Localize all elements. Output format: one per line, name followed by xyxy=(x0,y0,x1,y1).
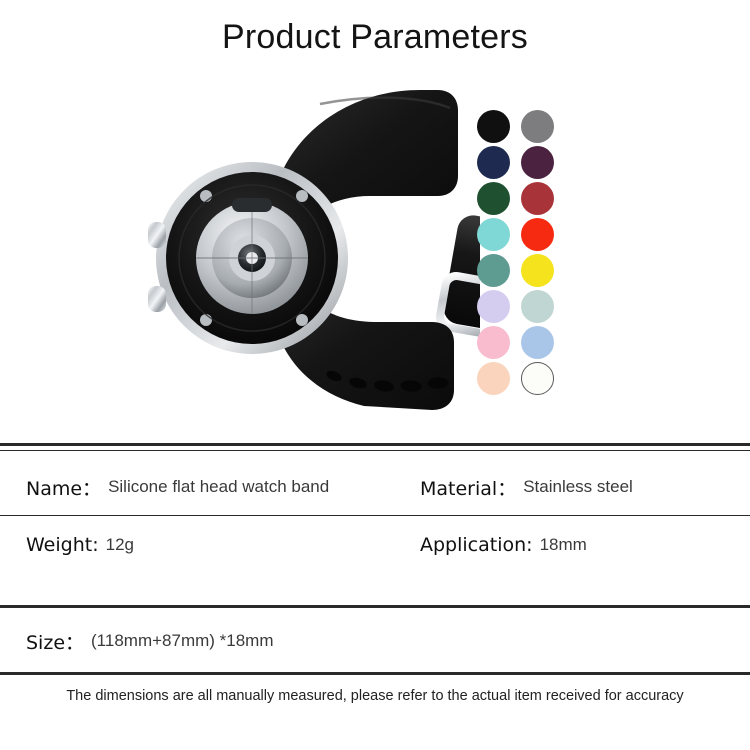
swatch-dot xyxy=(477,146,510,179)
swatch-dot xyxy=(477,362,510,395)
swatch-peach[interactable] xyxy=(474,360,512,396)
swatch-white[interactable] xyxy=(518,360,556,396)
swatch-dot xyxy=(477,110,510,143)
param-size: Size： (118mm+87mm) *18mm xyxy=(26,612,274,670)
table-top-rule xyxy=(0,443,750,446)
swatch-dot xyxy=(521,290,554,323)
side-button-bottom xyxy=(148,286,166,312)
swatch-dot xyxy=(521,182,554,215)
swatch-dot xyxy=(521,254,554,287)
swatch-yellow[interactable] xyxy=(518,252,556,288)
sensor-slot xyxy=(232,198,272,212)
measurement-note: The dimensions are all manually measured… xyxy=(0,688,750,704)
swatch-dot xyxy=(521,110,554,143)
swatch-pale-sage[interactable] xyxy=(518,288,556,324)
swatch-dot xyxy=(477,326,510,359)
param-row-1: Name： Silicone flat head watch band Mate… xyxy=(0,458,750,516)
swatch-lavender[interactable] xyxy=(474,288,512,324)
product-image xyxy=(120,80,480,410)
case-screw xyxy=(200,190,212,202)
swatch-gray[interactable] xyxy=(518,108,556,144)
param-row-2: Weight: 12g Application: 18mm xyxy=(0,516,750,574)
swatch-dot xyxy=(477,290,510,323)
swatch-dot xyxy=(477,182,510,215)
param-application: Application: 18mm xyxy=(420,516,587,574)
page-title: Product Parameters xyxy=(0,18,750,57)
swatch-black[interactable] xyxy=(474,108,512,144)
product-parameters-page: Product Parameters xyxy=(0,0,750,750)
swatch-dark-green[interactable] xyxy=(474,180,512,216)
param-weight-value: 12g xyxy=(106,535,134,555)
param-weight: Weight: 12g xyxy=(26,516,134,574)
table-bottom-rule xyxy=(0,672,750,675)
param-application-label: Application: xyxy=(420,534,533,556)
param-name-label: Name： xyxy=(26,474,101,501)
swatch-dark-red[interactable] xyxy=(518,180,556,216)
swatch-navy-blue[interactable] xyxy=(474,144,512,180)
swatch-teal[interactable] xyxy=(474,252,512,288)
swatch-dot xyxy=(521,362,554,395)
swatch-powder-blue[interactable] xyxy=(518,324,556,360)
param-row-size: Size： (118mm+87mm) *18mm xyxy=(0,612,750,670)
param-material: Material： Stainless steel xyxy=(420,458,633,516)
swatch-pink[interactable] xyxy=(474,324,512,360)
swatch-dot xyxy=(477,254,510,287)
side-button-top xyxy=(148,222,166,248)
param-size-label: Size： xyxy=(26,628,84,655)
param-size-value: (118mm+87mm) *18mm xyxy=(91,631,273,651)
swatch-dot xyxy=(521,146,554,179)
swatch-dot xyxy=(477,218,510,251)
swatch-dot xyxy=(521,218,554,251)
watch-band-illustration xyxy=(120,80,480,410)
swatch-dot xyxy=(521,326,554,359)
case-screw xyxy=(200,314,212,326)
param-material-label: Material： xyxy=(420,474,516,501)
param-weight-label: Weight: xyxy=(26,534,99,556)
color-swatch-grid[interactable] xyxy=(474,108,556,396)
table-top-rule-secondary xyxy=(0,450,750,451)
row-divider-2 xyxy=(0,605,750,608)
swatch-bright-red[interactable] xyxy=(518,216,556,252)
param-application-value: 18mm xyxy=(540,535,587,555)
param-material-value: Stainless steel xyxy=(523,477,633,497)
watch-case xyxy=(148,162,348,354)
param-name: Name： Silicone flat head watch band xyxy=(26,458,329,516)
swatch-plum-purple[interactable] xyxy=(518,144,556,180)
param-name-value: Silicone flat head watch band xyxy=(108,477,329,497)
swatch-mint[interactable] xyxy=(474,216,512,252)
